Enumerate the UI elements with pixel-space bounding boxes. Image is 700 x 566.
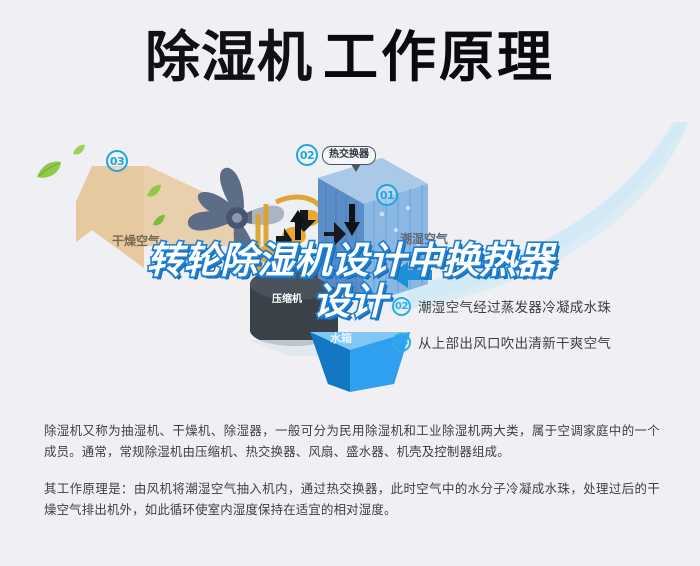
legend-text-03: 从上部出风口吹出清新干爽空气 bbox=[418, 332, 611, 352]
humid-air-label: 潮湿空气 bbox=[400, 230, 448, 247]
legend-badge-03: 03 bbox=[392, 333, 411, 352]
leaf-icon bbox=[72, 144, 86, 156]
dry-air-label: 干燥空气 bbox=[112, 232, 160, 249]
page-title: 除湿机工作原理 bbox=[0, 24, 700, 90]
paragraph-2: 其工作原理是：由风机将潮湿空气抽入机内，通过热交换器，此时空气中的水分子冷凝成水… bbox=[44, 478, 660, 520]
heat-exchanger-label: 热交换器 bbox=[322, 146, 376, 165]
step-badge-02: 02 bbox=[296, 144, 318, 166]
page-title-main: 除湿机 bbox=[145, 25, 313, 89]
legend-badge-02: 02 bbox=[392, 297, 411, 316]
paragraph-1: 除湿机又称为抽湿机、干燥机、除湿器，一般可分为民用除湿机和工业除湿机两大类，属于… bbox=[44, 420, 660, 462]
article-body: 除湿机又称为抽湿机、干燥机、除湿器，一般可分为民用除湿机和工业除湿机两大类，属于… bbox=[44, 420, 660, 520]
legend-item: 03 从上部出风口吹出清新干爽空气 bbox=[392, 332, 611, 352]
step-badge-01: 01 bbox=[376, 184, 398, 206]
leaf-icon bbox=[36, 160, 62, 180]
leaf-icon bbox=[146, 184, 162, 198]
compressor-label: 压缩机 bbox=[272, 290, 302, 305]
legend-list: 02 潮湿空气经过蒸发器冷凝成水珠 03 从上部出风口吹出清新干爽空气 bbox=[392, 296, 611, 368]
leaf-icon bbox=[152, 214, 166, 227]
step-badge-03: 03 bbox=[106, 150, 128, 172]
page-root: 除湿机工作原理 bbox=[0, 0, 700, 566]
legend-item: 02 潮湿空气经过蒸发器冷凝成水珠 bbox=[392, 296, 611, 316]
legend-text-02: 潮湿空气经过蒸发器冷凝成水珠 bbox=[418, 296, 611, 316]
water-tank-label: 水箱 bbox=[330, 330, 352, 346]
page-title-sub: 工作原理 bbox=[323, 25, 555, 89]
heat-exchanger-callout: 02 热交换器 bbox=[296, 144, 376, 166]
